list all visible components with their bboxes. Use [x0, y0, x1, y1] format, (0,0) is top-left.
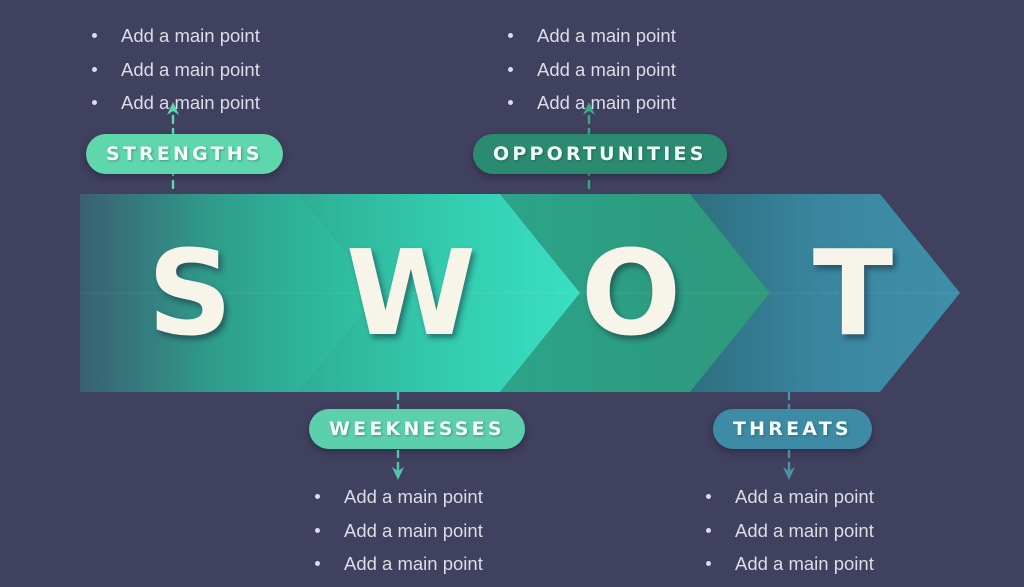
- bullet-dot: [92, 67, 97, 72]
- list-item: Add a main point: [508, 59, 676, 82]
- bullet-text: Add a main point: [735, 486, 874, 509]
- letter-w: W: [346, 234, 476, 352]
- bullet-text: Add a main point: [344, 520, 483, 543]
- list-item: Add a main point: [92, 92, 260, 115]
- letter-s: S: [148, 234, 233, 352]
- pill-strengths[interactable]: STRENGTHS: [86, 134, 283, 174]
- swot-letters: S W O T: [0, 194, 1024, 392]
- list-item: Add a main point: [706, 520, 874, 543]
- list-item: Add a main point: [92, 59, 260, 82]
- pill-opportunities-label: OPPORTUNITIES: [493, 143, 707, 165]
- swot-diagram: S W O T STRENGTHS Add a main point Add a…: [0, 0, 1024, 576]
- list-item: Add a main point: [508, 92, 676, 115]
- list-item: Add a main point: [315, 486, 483, 509]
- bullet-text: Add a main point: [344, 486, 483, 509]
- bullet-dot: [315, 494, 320, 499]
- list-item: Add a main point: [92, 25, 260, 48]
- bullet-text: Add a main point: [537, 59, 676, 82]
- list-item: Add a main point: [706, 553, 874, 576]
- bullet-dot: [315, 561, 320, 566]
- bullet-text: Add a main point: [735, 553, 874, 576]
- list-item: Add a main point: [706, 486, 874, 509]
- bullet-text: Add a main point: [121, 59, 260, 82]
- bullet-text: Add a main point: [121, 92, 260, 115]
- pill-opportunities[interactable]: OPPORTUNITIES: [473, 134, 727, 174]
- bullets-threats: Add a main point Add a main point Add a …: [706, 486, 874, 587]
- bullet-dot: [92, 33, 97, 38]
- pill-strengths-label: STRENGTHS: [106, 143, 263, 165]
- bullet-text: Add a main point: [121, 25, 260, 48]
- bullet-text: Add a main point: [537, 25, 676, 48]
- pill-weeknesses[interactable]: WEEKNESSES: [309, 409, 525, 449]
- letter-o: O: [581, 234, 681, 352]
- bullet-dot: [92, 100, 97, 105]
- bullets-opportunities: Add a main point Add a main point Add a …: [508, 25, 676, 126]
- bullet-dot: [315, 528, 320, 533]
- bullet-dot: [706, 561, 711, 566]
- list-item: Add a main point: [508, 25, 676, 48]
- bullet-text: Add a main point: [344, 553, 483, 576]
- list-item: Add a main point: [315, 553, 483, 576]
- pill-threats[interactable]: THREATS: [713, 409, 872, 449]
- pill-threats-label: THREATS: [733, 418, 852, 440]
- connector-threats-lower: [781, 450, 797, 482]
- bullet-text: Add a main point: [735, 520, 874, 543]
- bullet-dot: [508, 33, 513, 38]
- list-item: Add a main point: [315, 520, 483, 543]
- pill-weeknesses-label: WEEKNESSES: [329, 418, 505, 440]
- bullet-dot: [706, 528, 711, 533]
- letter-t: T: [813, 234, 894, 352]
- bullets-strengths: Add a main point Add a main point Add a …: [92, 25, 260, 126]
- bullet-dot: [508, 100, 513, 105]
- bullets-weeknesses: Add a main point Add a main point Add a …: [315, 486, 483, 587]
- bullet-text: Add a main point: [537, 92, 676, 115]
- connector-weeknesses-lower: [390, 450, 406, 482]
- bullet-dot: [706, 494, 711, 499]
- bullet-dot: [508, 67, 513, 72]
